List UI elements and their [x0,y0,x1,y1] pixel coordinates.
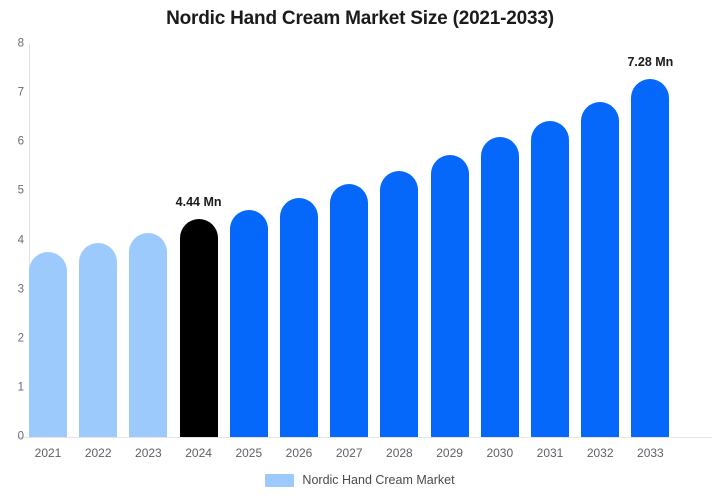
bar-chart: Nordic Hand Cream Market Size (2021-2033… [0,0,720,500]
legend-label: Nordic Hand Cream Market [302,473,454,487]
bar-value-label-2024: 4.44 Mn [176,195,222,209]
bar-2028[interactable] [380,171,418,437]
chart-legend: Nordic Hand Cream Market [0,473,720,487]
bar-2027[interactable] [330,184,368,437]
legend-swatch-icon [265,474,294,487]
x-axis-tick-label-2033: 2033 [620,446,680,460]
bar-2025[interactable] [230,210,268,437]
bar-2021[interactable] [29,252,67,437]
bar-2022[interactable] [79,243,117,437]
bar-2023[interactable] [129,233,167,437]
bar-2024[interactable] [180,219,218,437]
bar-2029[interactable] [431,155,469,437]
bars-layer: 20212022202320244.44 Mn20252026202720282… [0,0,720,500]
bar-2033[interactable] [631,79,669,437]
bar-2026[interactable] [280,198,318,437]
bar-2030[interactable] [481,137,519,437]
bar-2031[interactable] [531,121,569,437]
bar-2032[interactable] [581,102,619,437]
bar-value-label-2033: 7.28 Mn [627,55,673,69]
